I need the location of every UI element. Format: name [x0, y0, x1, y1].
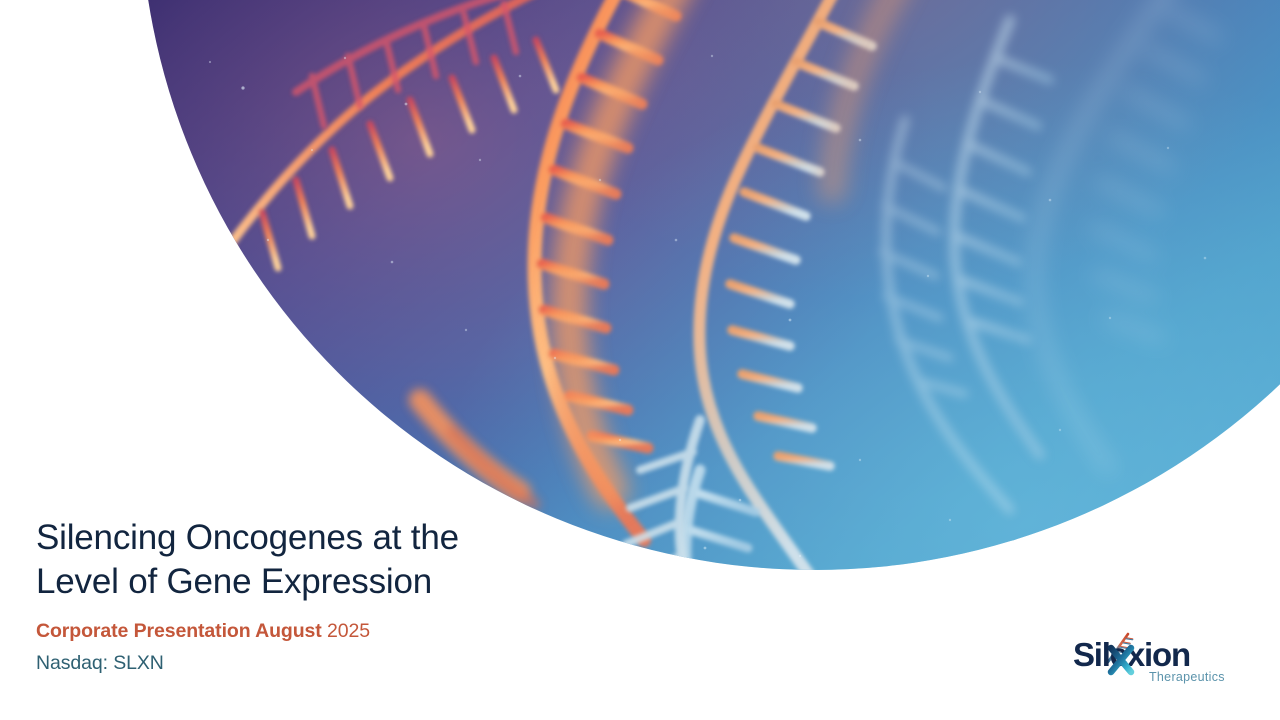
dna-helix-orange-center — [535, 0, 676, 540]
dna-helix-center — [686, 0, 872, 618]
silexion-logo[interactable]: Silexion Therapeutics — [1070, 628, 1260, 692]
stock-ticker: Nasdaq: SLXN — [36, 650, 656, 676]
dna-helix-top-left-secondary — [296, 0, 658, 126]
silexion-logo-mark: Silexion Therapeutics — [1070, 628, 1260, 692]
subtitle-year-text: 2025 — [322, 620, 370, 642]
starfield — [129, 34, 1207, 558]
page-title: Silencing Oncogenes at the Level of Gene… — [36, 516, 656, 604]
dna-helix-far-right — [1035, 0, 1218, 470]
dna-helix-top-left — [212, 0, 556, 300]
dna-helix-glow-backdrop — [569, 0, 900, 490]
title-block: Silencing Oncogenes at the Level of Gene… — [36, 516, 656, 676]
dna-helix-lower-left — [420, 400, 534, 504]
dna-helix-right-pale — [954, 20, 1050, 455]
logo-tagline-text: Therapeutics — [1149, 670, 1225, 684]
dna-helix-mid-right-pale — [882, 120, 1010, 510]
presentation-slide: Silencing Oncogenes at the Level of Gene… — [0, 0, 1280, 720]
presentation-subtitle: Corporate Presentation August 2025 — [36, 618, 656, 644]
logo-wordmark-text: Silexion — [1073, 636, 1190, 673]
subtitle-bold-text: Corporate Presentation August — [36, 620, 322, 642]
